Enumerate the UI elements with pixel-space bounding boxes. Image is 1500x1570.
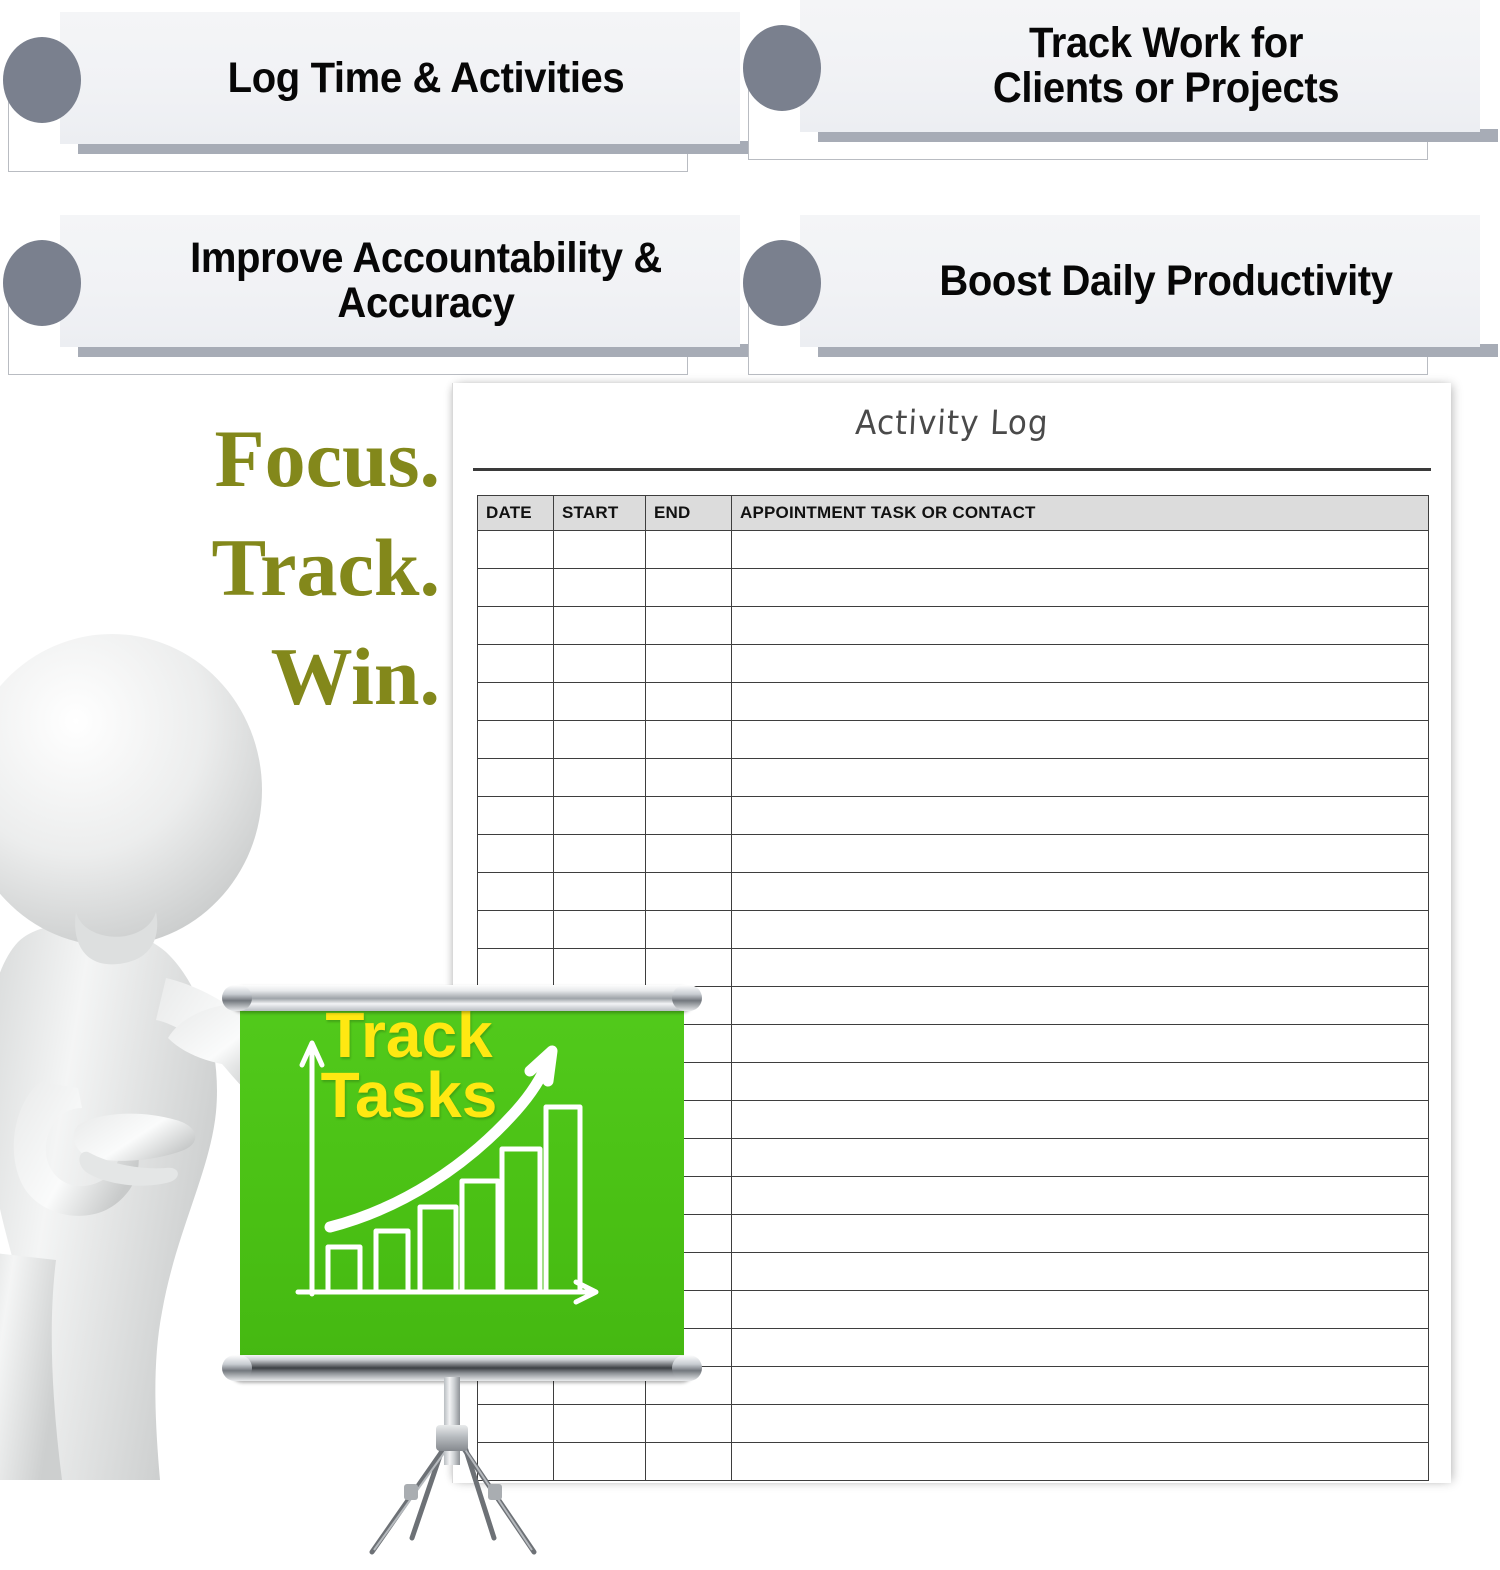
table-cell[interactable] <box>478 911 554 949</box>
easel-top-right-cap <box>672 985 702 1011</box>
easel-bottom-left-cap <box>222 1355 252 1381</box>
column-header-end: END <box>646 496 732 531</box>
easel-top-left-cap <box>222 985 252 1011</box>
table-cell[interactable] <box>646 607 732 645</box>
table-cell[interactable] <box>478 721 554 759</box>
table-cell[interactable] <box>732 1367 1429 1405</box>
easel-bottom-right-cap <box>672 1355 702 1381</box>
table-cell[interactable] <box>478 607 554 645</box>
bullet-circle-icon <box>3 37 81 123</box>
table-cell[interactable] <box>646 683 732 721</box>
feature-card-track-work-clients[interactable]: Track Work forClients or Projects <box>800 0 1480 132</box>
table-cell[interactable] <box>478 645 554 683</box>
table-row[interactable] <box>478 759 1429 797</box>
table-cell[interactable] <box>732 1405 1429 1443</box>
table-cell[interactable] <box>478 569 554 607</box>
table-cell[interactable] <box>732 1177 1429 1215</box>
track-tasks-sign: Track Tasks <box>240 999 684 1361</box>
column-header-task: APPOINTMENT TASK OR CONTACT <box>732 496 1429 531</box>
tripod-clamp-right <box>488 1484 502 1500</box>
table-cell[interactable] <box>732 645 1429 683</box>
bullet-circle-icon <box>743 25 821 111</box>
table-cell[interactable] <box>646 949 732 987</box>
tagline-line-3: Win. <box>140 622 440 731</box>
table-cell[interactable] <box>478 797 554 835</box>
table-row[interactable] <box>478 645 1429 683</box>
easel-top-bar <box>230 985 694 1011</box>
table-cell[interactable] <box>732 569 1429 607</box>
table-cell[interactable] <box>732 835 1429 873</box>
table-cell[interactable] <box>554 721 646 759</box>
feature-card-label: Boost Daily Productivity <box>891 215 1442 347</box>
table-row[interactable] <box>478 949 1429 987</box>
column-header-start: START <box>554 496 646 531</box>
table-cell[interactable] <box>732 911 1429 949</box>
easel-pole-knuckle <box>436 1425 468 1451</box>
table-cell[interactable] <box>554 873 646 911</box>
easel-bottom-bar <box>230 1355 694 1381</box>
table-row[interactable] <box>478 569 1429 607</box>
table-row[interactable] <box>478 835 1429 873</box>
feature-card-label: Improve Accountability &Accuracy <box>151 215 702 347</box>
table-cell[interactable] <box>646 911 732 949</box>
bullet-circle-icon <box>3 240 81 326</box>
table-cell[interactable] <box>646 569 732 607</box>
table-cell[interactable] <box>478 873 554 911</box>
tagline-line-2: Track. <box>140 513 440 622</box>
document-title: Activity Log <box>452 404 1452 443</box>
table-cell[interactable] <box>646 759 732 797</box>
table-cell[interactable] <box>732 1063 1429 1101</box>
tagline: Focus. Track. Win. <box>140 404 440 731</box>
table-cell[interactable] <box>554 569 646 607</box>
table-cell[interactable] <box>732 1101 1429 1139</box>
table-row[interactable] <box>478 531 1429 569</box>
table-cell[interactable] <box>554 607 646 645</box>
table-cell[interactable] <box>554 911 646 949</box>
table-cell[interactable] <box>646 797 732 835</box>
table-cell[interactable] <box>646 721 732 759</box>
table-row[interactable] <box>478 797 1429 835</box>
table-row[interactable] <box>478 683 1429 721</box>
table-cell[interactable] <box>478 759 554 797</box>
table-cell[interactable] <box>554 797 646 835</box>
tagline-line-1: Focus. <box>140 404 440 513</box>
table-row[interactable] <box>478 873 1429 911</box>
table-cell[interactable] <box>732 1253 1429 1291</box>
table-cell[interactable] <box>732 607 1429 645</box>
table-cell[interactable] <box>646 531 732 569</box>
table-row[interactable] <box>478 721 1429 759</box>
table-cell[interactable] <box>478 531 554 569</box>
feature-card-improve-accountability[interactable]: Improve Accountability &Accuracy <box>60 215 740 347</box>
table-cell[interactable] <box>478 683 554 721</box>
table-cell[interactable] <box>732 987 1429 1025</box>
table-cell[interactable] <box>554 949 646 987</box>
table-cell[interactable] <box>732 873 1429 911</box>
feature-card-log-time-activities[interactable]: Log Time & Activities <box>60 12 740 144</box>
feature-card-label: Track Work forClients or Projects <box>891 0 1442 132</box>
table-cell[interactable] <box>554 683 646 721</box>
easel-tripod-legs <box>222 1440 702 1570</box>
table-cell[interactable] <box>732 1025 1429 1063</box>
column-header-date: DATE <box>478 496 554 531</box>
table-row[interactable] <box>478 911 1429 949</box>
table-cell[interactable] <box>732 1443 1429 1481</box>
feature-card-label: Log Time & Activities <box>151 12 702 144</box>
table-cell[interactable] <box>732 1291 1429 1329</box>
easel-pole <box>444 1377 460 1465</box>
table-cell[interactable] <box>732 1215 1429 1253</box>
table-cell[interactable] <box>646 835 732 873</box>
sign-bar-chart <box>240 999 684 1361</box>
table-cell[interactable] <box>732 797 1429 835</box>
table-cell[interactable] <box>646 645 732 683</box>
table-cell[interactable] <box>554 645 646 683</box>
title-divider <box>473 468 1431 471</box>
table-row[interactable] <box>478 607 1429 645</box>
table-cell[interactable] <box>732 1329 1429 1367</box>
feature-card-boost-productivity[interactable]: Boost Daily Productivity <box>800 215 1480 347</box>
tripod-clamp-left <box>404 1484 418 1500</box>
table-cell[interactable] <box>732 531 1429 569</box>
bullet-circle-icon <box>743 240 821 326</box>
table-cell[interactable] <box>732 683 1429 721</box>
table-cell[interactable] <box>554 835 646 873</box>
presentation-easel: Track Tasks <box>222 985 702 1480</box>
table-cell[interactable] <box>554 759 646 797</box>
table-header-row: DATE START END APPOINTMENT TASK OR CONTA… <box>478 496 1429 531</box>
table-cell[interactable] <box>732 949 1429 987</box>
table-cell[interactable] <box>732 759 1429 797</box>
table-cell[interactable] <box>554 531 646 569</box>
table-cell[interactable] <box>732 721 1429 759</box>
table-cell[interactable] <box>732 1139 1429 1177</box>
table-cell[interactable] <box>478 835 554 873</box>
table-cell[interactable] <box>646 873 732 911</box>
table-cell[interactable] <box>478 949 554 987</box>
